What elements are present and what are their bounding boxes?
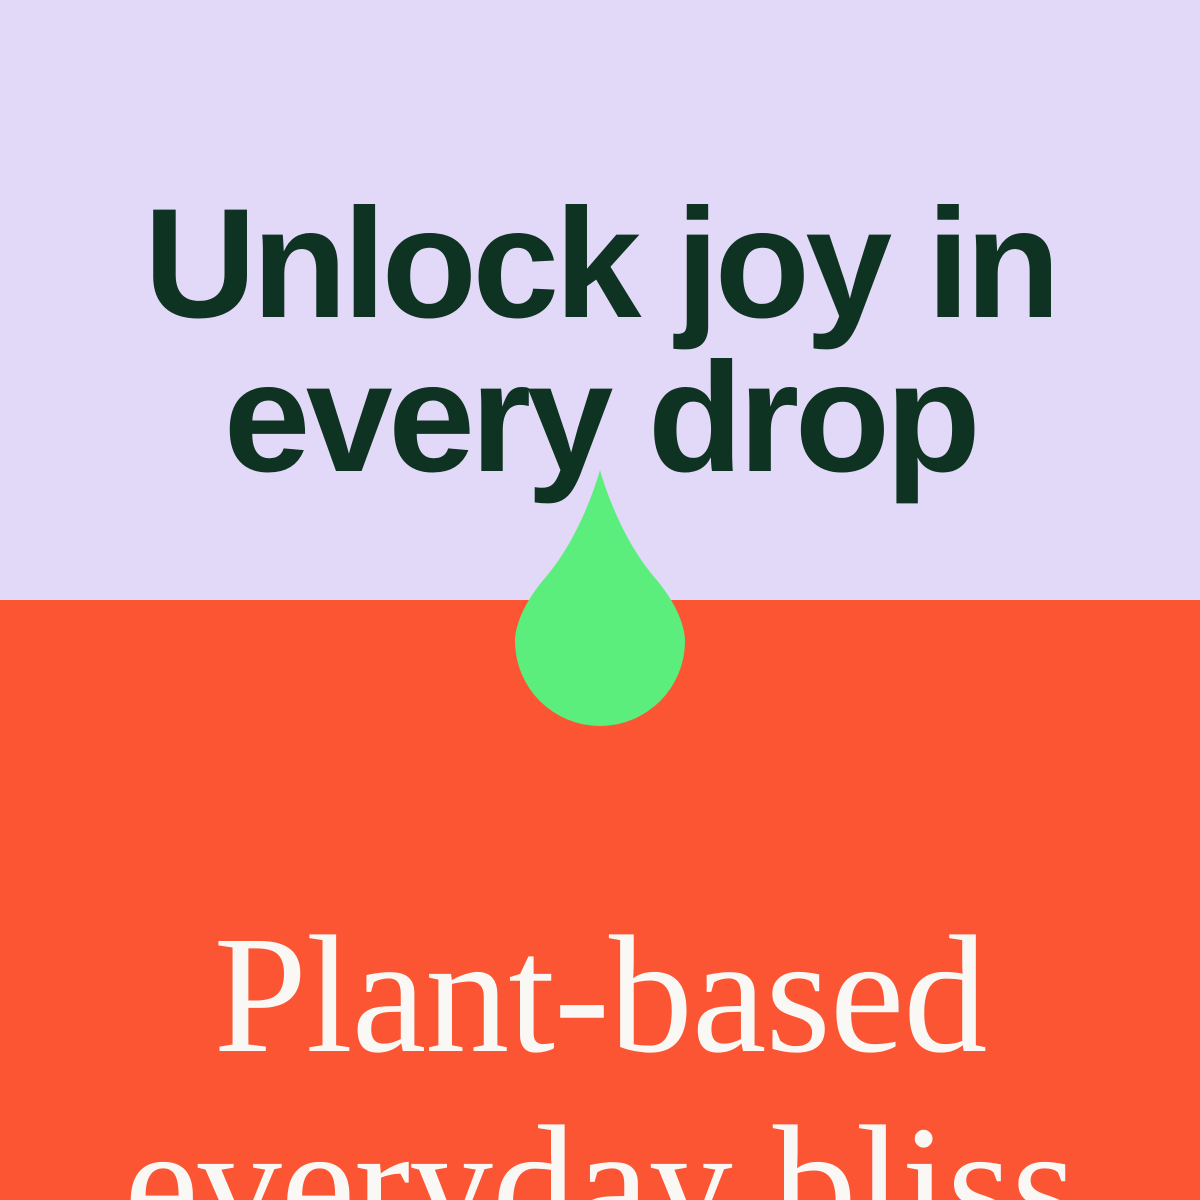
subline: Plant-based everyday bliss <box>0 901 1200 1200</box>
droplet-mark <box>505 462 695 726</box>
poster-canvas: Unlock joy in every drop Plant-based eve… <box>0 0 1200 1200</box>
water-droplet-icon <box>505 462 695 726</box>
headline: Unlock joy in every drop <box>0 187 1200 496</box>
